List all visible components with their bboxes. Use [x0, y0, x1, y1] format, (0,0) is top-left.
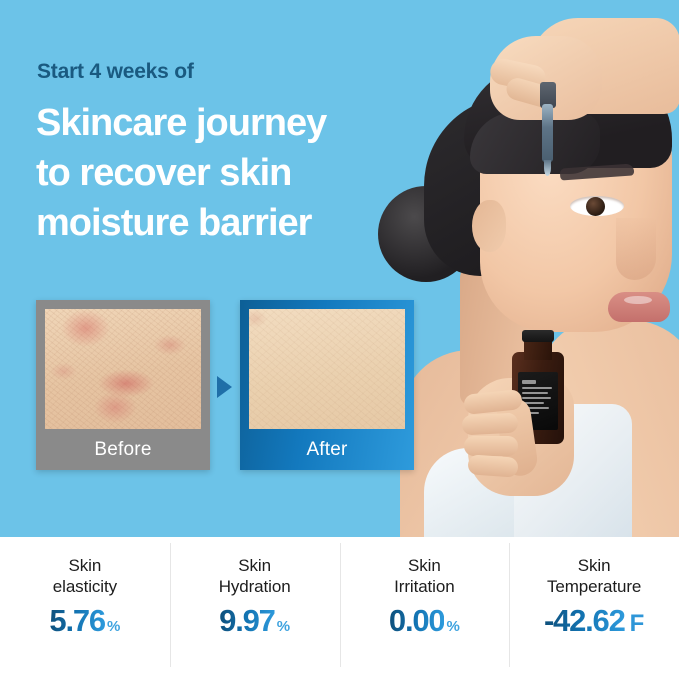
stat-number: 9.97: [219, 603, 275, 639]
before-card[interactable]: Before: [36, 300, 210, 470]
dropper-tip: [544, 160, 551, 176]
stat-value: -42.62 F: [544, 603, 644, 639]
lower-hand-finger-3: [464, 436, 518, 456]
stat-label-line-1: Skin: [69, 556, 102, 575]
ear: [472, 200, 506, 252]
dropper-glass: [542, 104, 553, 162]
headline-line-2: to recover skin: [36, 148, 326, 198]
stat-label-line-1: Skin: [408, 556, 441, 575]
page-title: Skincare journey to recover skin moistur…: [36, 98, 326, 248]
promo-poster: Start 4 weeks of Skincare journey to rec…: [0, 0, 679, 679]
stat-unit: F: [630, 610, 645, 638]
stat-label-line-2: Temperature: [547, 577, 641, 596]
stat-label-line-2: Irritation: [394, 577, 454, 596]
nose: [616, 218, 656, 280]
stat-unit: %: [446, 618, 459, 635]
after-skin-texture: [249, 309, 405, 429]
stat-unit: %: [107, 618, 120, 635]
stat-label: Skin elasticity: [53, 555, 117, 597]
before-skin-image: [45, 309, 201, 429]
after-card[interactable]: After: [240, 300, 414, 470]
stat-label-line-2: elasticity: [53, 577, 117, 596]
headline-line-3: moisture barrier: [36, 198, 326, 248]
after-label: After: [240, 430, 414, 470]
before-label: Before: [36, 430, 210, 470]
stat-label: Skin Temperature: [547, 555, 641, 597]
lower-hand-finger-2: [462, 413, 519, 436]
stat-skin-elasticity: Skin elasticity 5.76 %: [0, 537, 170, 679]
stat-number: 5.76: [49, 603, 105, 639]
lower-hand-finger-4: [467, 454, 518, 477]
before-skin-texture: [45, 309, 201, 429]
stat-value: 9.97 %: [219, 603, 290, 639]
eyebrow-text: Start 4 weeks of: [37, 60, 194, 84]
iris: [586, 197, 605, 216]
stat-unit: %: [277, 618, 290, 635]
serum-bottle-collar: [522, 330, 554, 342]
stat-label: Skin Irritation: [394, 555, 454, 597]
headline-line-1: Skincare journey: [36, 98, 326, 148]
stat-label-line-1: Skin: [578, 556, 611, 575]
model-photo: [372, 0, 679, 537]
after-skin-image: [249, 309, 405, 429]
hair-sweep: [470, 112, 600, 174]
stat-number: -42.62: [544, 603, 625, 639]
stat-label-line-2: Hydration: [219, 577, 291, 596]
stat-skin-irritation: Skin Irritation 0.00 %: [340, 537, 510, 679]
stat-label-line-1: Skin: [238, 556, 271, 575]
lip-highlight: [624, 296, 652, 304]
hero-section: Start 4 weeks of Skincare journey to rec…: [0, 0, 679, 537]
arrow-right-icon: [217, 376, 232, 398]
stat-label: Skin Hydration: [219, 555, 291, 597]
stat-value: 0.00 %: [389, 603, 460, 639]
stats-panel: Skin elasticity 5.76 % Skin Hydration 9.…: [0, 537, 679, 679]
stat-skin-temperature: Skin Temperature -42.62 F: [509, 537, 679, 679]
stat-skin-hydration: Skin Hydration 9.97 %: [170, 537, 340, 679]
stat-number: 0.00: [389, 603, 445, 639]
stat-value: 5.76 %: [49, 603, 120, 639]
